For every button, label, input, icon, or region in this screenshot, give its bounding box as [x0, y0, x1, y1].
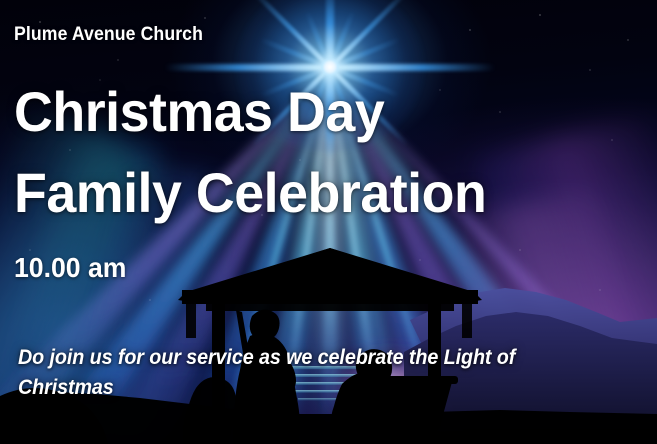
church-name: Plume Avenue Church: [14, 24, 203, 46]
christmas-poster: Plume Avenue Church Christmas Day Family…: [0, 0, 657, 444]
invitation-blurb: Do join us for our service as we celebra…: [18, 343, 610, 403]
headline-line-1: Christmas Day: [14, 84, 384, 140]
headline-line-2: Family Celebration: [14, 165, 486, 221]
event-time: 10.00 am: [14, 252, 126, 284]
